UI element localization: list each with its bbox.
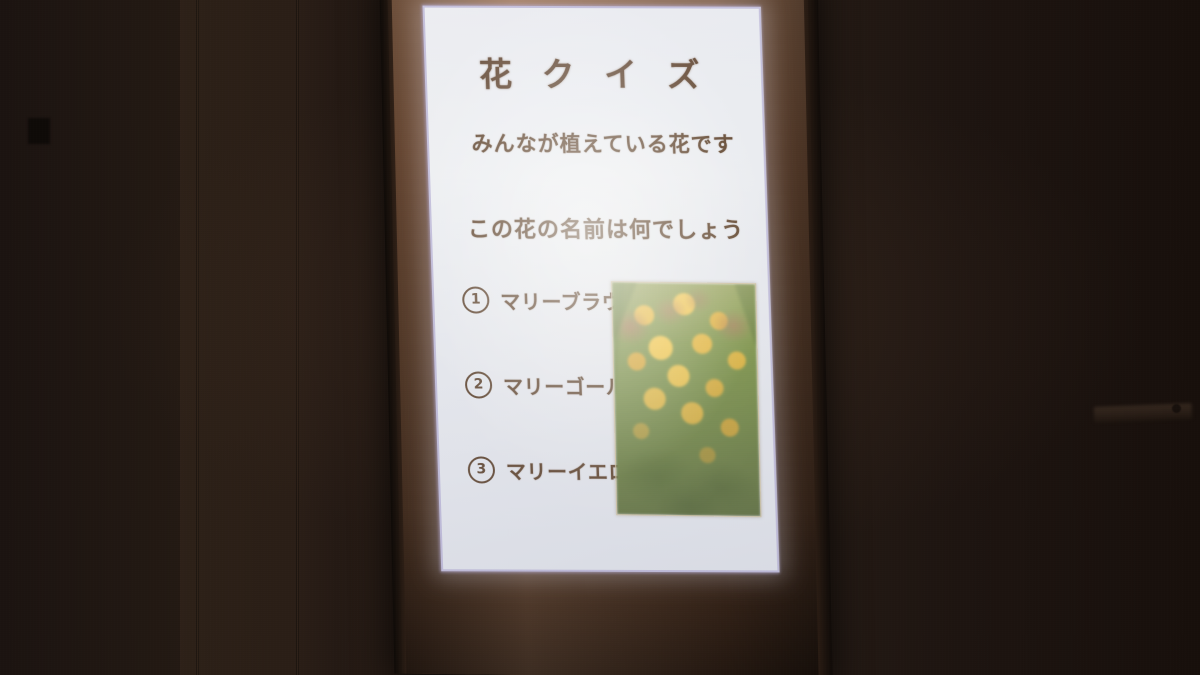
projection-room-scene: 花 ク イ ズ みんなが植えている花です この花の名前は何でしょう 1 マリーブ… — [0, 0, 1200, 675]
option-number-circle-1: 1 — [462, 286, 490, 313]
slide-subtitle-1: みんなが植えている花です — [453, 128, 754, 159]
projected-slide: 花 ク イ ズ みんなが植えている花です この花の名前は何でしょう 1 マリーブ… — [423, 6, 780, 573]
option-number-circle-3: 3 — [467, 456, 495, 483]
wall-notch — [28, 118, 50, 144]
slide-surface: 花 ク イ ズ みんなが植えている花です この花の名前は何でしょう 1 マリーブ… — [423, 6, 780, 573]
photo-shading-layer — [612, 282, 760, 516]
slide-subtitle-2: この花の名前は何でしょう — [455, 212, 756, 245]
option-number-circle-2: 2 — [465, 371, 493, 398]
slide-title: 花 ク イ ズ — [424, 48, 764, 97]
marigold-photo — [611, 281, 761, 517]
wall-ledge-end — [1172, 404, 1181, 413]
